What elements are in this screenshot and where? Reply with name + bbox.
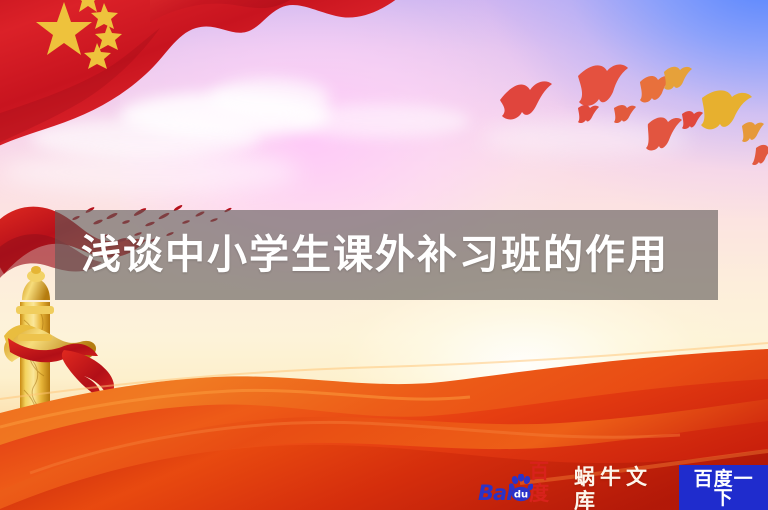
poster-canvas: 浅谈中小学生课外补习班的作用 Bai du 百度 蜗牛文库 百度一下 <box>0 0 768 510</box>
chinese-flag-icon <box>0 0 410 190</box>
baidu-search-button[interactable]: 百度一下 <box>679 465 768 510</box>
baidu-chinese-text: 百度 <box>529 460 563 504</box>
brand-name: 蜗牛文库 <box>574 465 671 510</box>
dove-flock-icon <box>480 50 768 170</box>
watermark-bar: Bai du 百度 蜗牛文库 百度一下 <box>478 472 768 506</box>
baidu-logo[interactable]: Bai du 百度 <box>478 474 567 504</box>
baidu-paw-icon: du <box>509 476 531 504</box>
page-title: 浅谈中小学生课外补习班的作用 <box>55 235 669 275</box>
title-banner: 浅谈中小学生课外补习班的作用 <box>55 210 718 300</box>
baidu-latin-text: Bai <box>478 482 512 504</box>
svg-text:du: du <box>514 490 528 501</box>
